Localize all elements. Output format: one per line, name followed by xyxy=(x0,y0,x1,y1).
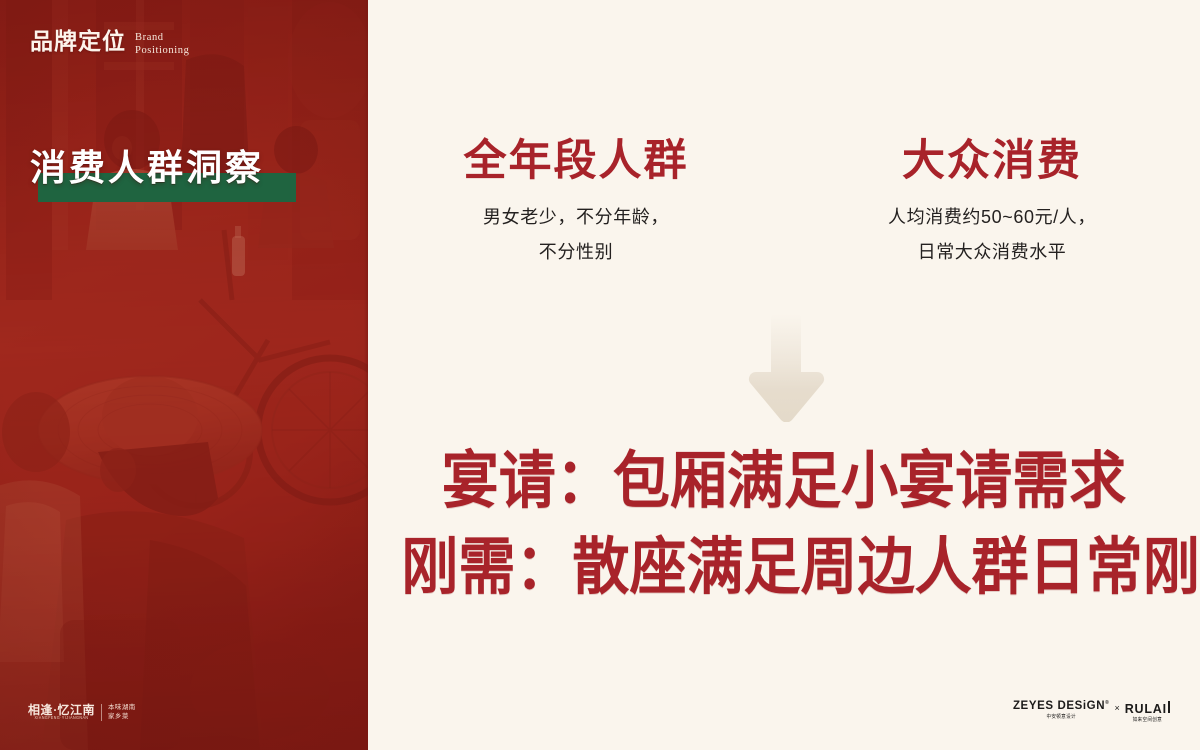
restaurant-logo-divider xyxy=(101,704,102,721)
statement-line-2: 刚需：散座满足周边人群日常刚需 xyxy=(401,526,1166,612)
brand-title-en: Brand Positioning xyxy=(135,30,189,58)
section-title-label: 消费人群洞察 xyxy=(30,150,264,186)
background-photo xyxy=(0,0,368,750)
column-heading-spending: 大众消费 xyxy=(802,138,1182,186)
spending-sub-line-2: 日常大众消费水平 xyxy=(802,235,1182,270)
credit-studio-name-text: ZEYES DESiGN xyxy=(1013,700,1105,712)
brand-lockup: 品牌定位 Brand Positioning xyxy=(30,30,189,58)
section-title: 消费人群洞察 xyxy=(30,150,264,186)
spending-sub-line-1: 人均消费约50~60元/人， xyxy=(802,200,1182,235)
brand-en-line-1: Brand xyxy=(135,32,164,43)
column-heading-audience: 全年段人群 xyxy=(386,138,766,186)
column-subtext-spending: 人均消费约50~60元/人， 日常大众消费水平 xyxy=(802,200,1182,270)
restaurant-logo-tagline: 本味湖南 家乡菜 xyxy=(108,704,136,721)
credit-partner: RULAI 如来空间创意 xyxy=(1125,701,1170,724)
credit-partner-bar-icon xyxy=(1168,701,1170,713)
right-panel: 全年段人群 男女老少，不分年龄， 不分性别 大众消费 人均消费约50~60元/人… xyxy=(368,0,1200,750)
insight-columns: 全年段人群 男女老少，不分年龄， 不分性别 大众消费 人均消费约50~60元/人… xyxy=(368,138,1200,270)
restaurant-tagline-line-2: 家乡菜 xyxy=(108,713,136,721)
insight-column-spending: 大众消费 人均消费约50~60元/人， 日常大众消费水平 xyxy=(784,138,1200,270)
insight-column-audience: 全年段人群 男女老少，不分年龄， 不分性别 xyxy=(368,138,784,270)
statement-line-1: 宴请：包厢满足小宴请需求 xyxy=(401,440,1166,526)
statement-block: 宴请：包厢满足小宴请需求 刚需：散座满足周边人群日常刚需 xyxy=(368,440,1200,611)
audience-sub-line-2: 不分性别 xyxy=(386,235,766,270)
credit-partner-sub: 如来空间创意 xyxy=(1133,717,1162,725)
credit-registered-icon: ® xyxy=(1105,700,1109,706)
credit-partner-name-tail: AI xyxy=(1153,703,1167,716)
credit-connector-icon: × xyxy=(1114,701,1119,714)
brand-en-line-2: Positioning xyxy=(135,45,189,56)
credit-partner-name-head: RUL xyxy=(1125,703,1153,716)
brand-title-cn: 品牌定位 xyxy=(30,30,126,53)
down-arrow-icon xyxy=(736,312,832,422)
design-credit: ZEYES DESiGN® 中安顿意设计 × RULAI 如来空间创意 xyxy=(1013,701,1170,724)
credit-partner-name: RULAI xyxy=(1125,701,1170,716)
restaurant-name-cn: 相逢·忆江南 xyxy=(28,704,95,717)
restaurant-name-pinyin: XIANGFENG·YIJIANGNAN xyxy=(35,716,89,723)
credit-studio-name: ZEYES DESiGN® xyxy=(1013,701,1110,713)
left-panel: 品牌定位 Brand Positioning 消费人群洞察 相逢·忆江南 XIA… xyxy=(0,0,368,750)
audience-sub-line-1: 男女老少，不分年龄， xyxy=(386,200,766,235)
restaurant-tagline-line-1: 本味湖南 xyxy=(108,704,136,712)
credit-studio-sub: 中安顿意设计 xyxy=(1047,714,1076,722)
slide-root: 品牌定位 Brand Positioning 消费人群洞察 相逢·忆江南 XIA… xyxy=(0,0,1200,750)
restaurant-logo-main: 相逢·忆江南 XIANGFENG·YIJIANGNAN xyxy=(28,704,95,722)
column-subtext-audience: 男女老少，不分年龄， 不分性别 xyxy=(386,200,766,270)
restaurant-logo: 相逢·忆江南 XIANGFENG·YIJIANGNAN 本味湖南 家乡菜 xyxy=(28,704,136,722)
credit-studio: ZEYES DESiGN® 中安顿意设计 xyxy=(1013,701,1110,721)
photo-vignette xyxy=(0,0,368,750)
